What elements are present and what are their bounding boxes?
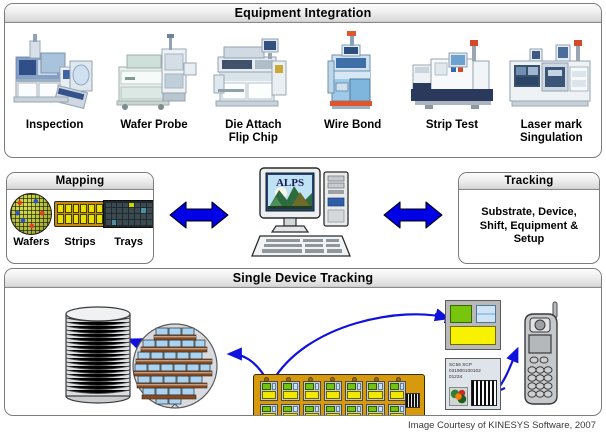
tracking-description: Substrate, Device, Shift, Equipment & Se… (475, 206, 583, 247)
image-credit: Image Courtesy of KINESYS Software, 2007 (0, 420, 602, 431)
mapping-item-strips[interactable]: Strips (57, 192, 103, 248)
equipment-label: Die Attach Flip Chip (225, 119, 281, 145)
computer-screen-label: ALPS (276, 177, 304, 189)
laser-mark-machine-icon (504, 27, 598, 117)
substrate-device (324, 404, 342, 417)
substrate-device (345, 381, 363, 401)
equipment-item-wafer-probe[interactable]: Wafer Probe (104, 23, 203, 157)
tray-icon (103, 192, 154, 235)
equipment-item-inspection[interactable]: Inspection (5, 23, 104, 157)
equipment-label: Wafer Probe (120, 119, 187, 132)
single-device-tracking-body: SC56 SCP 031900100102 01234 (5, 288, 601, 415)
substrate-datamatrix-icon (405, 393, 420, 408)
mapping-item-label: Wafers (13, 236, 49, 248)
device-die-green (450, 305, 472, 323)
substrate-device (366, 381, 384, 401)
mobile-phone-icon (517, 300, 563, 410)
substrate-device (345, 404, 363, 417)
equipment-label: Strip Test (426, 119, 478, 132)
equipment-item-die-attach-flip-chip[interactable]: Die Attach Flip Chip (204, 23, 303, 157)
substrate-device (260, 404, 278, 417)
datamatrix-code-icon (471, 380, 497, 406)
mapping-item-trays[interactable]: Trays (106, 192, 152, 248)
device-package-icon (445, 300, 501, 350)
equipment-integration-header: Equipment Integration (5, 4, 601, 23)
desktop-computer-icon: ALPS (246, 166, 354, 262)
tracking-panel: Tracking Substrate, Device, Shift, Equip… (458, 172, 600, 264)
substrate-device (303, 404, 321, 417)
substrate-device-grid (260, 381, 406, 416)
double-arrow-left-icon (168, 198, 230, 237)
wafer-map-icon (123, 322, 227, 410)
equipment-item-strip-test[interactable]: Strip Test (402, 23, 501, 157)
die-attach-machine-icon (206, 27, 300, 117)
equipment-label: Wire Bond (324, 119, 381, 132)
substrate-device (388, 381, 406, 401)
wire-bond-machine-icon (306, 27, 400, 117)
equipment-label: Laser mark Singulation (520, 119, 583, 145)
single-device-tracking-panel: Single Device Tracking (4, 268, 602, 416)
inspection-machine-icon (8, 27, 102, 117)
wafer-disc-icon (10, 192, 52, 235)
mapping-header: Mapping (7, 173, 153, 190)
equipment-item-laser-mark-singulation[interactable]: Laser mark Singulation (502, 23, 601, 157)
substrate-device (303, 381, 321, 401)
diagram-canvas: Equipment Integration (0, 0, 606, 439)
substrate-device (281, 381, 299, 401)
mapping-item-wafers[interactable]: Wafers (8, 192, 54, 248)
tracking-body: Substrate, Device, Shift, Equipment & Se… (459, 190, 599, 263)
double-arrow-right-icon (382, 198, 444, 237)
company-logo-icon (449, 387, 468, 406)
single-device-tracking-header: Single Device Tracking (5, 269, 601, 288)
datamatrix-label-icon: SC56 SCP 031900100102 01234 (445, 358, 501, 410)
mapping-body: Wafers Strips (7, 190, 153, 263)
substrate-device (324, 381, 342, 401)
tracking-header: Tracking (459, 173, 599, 190)
device-die-blue (476, 305, 496, 323)
equipment-item-wire-bond[interactable]: Wire Bond (303, 23, 402, 157)
wafer-probe-machine-icon (107, 27, 201, 117)
equipment-integration-body: Inspection (5, 23, 601, 157)
device-body-yellow (450, 326, 496, 345)
strip-icon (54, 192, 106, 235)
equipment-label: Inspection (26, 119, 84, 132)
substrate-strip-icon (253, 374, 425, 416)
mapping-item-label: Strips (64, 236, 95, 248)
strip-test-machine-icon (405, 27, 499, 117)
substrate-device (260, 381, 278, 401)
mapping-panel: Mapping Wafers Strips (6, 172, 154, 264)
substrate-device (388, 404, 406, 417)
substrate-device (281, 404, 299, 417)
substrate-device (366, 404, 384, 417)
mapping-item-label: Trays (114, 236, 143, 248)
equipment-integration-panel: Equipment Integration (4, 3, 602, 158)
